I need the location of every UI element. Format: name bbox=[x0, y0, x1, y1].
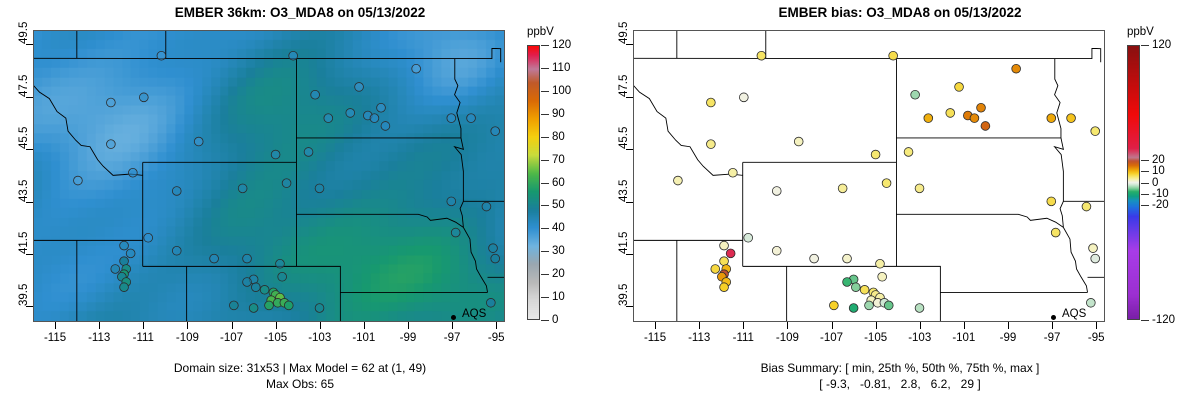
station-marker[interactable] bbox=[251, 283, 260, 292]
station-marker[interactable] bbox=[106, 98, 115, 107]
colorbar-tick-label: 10 bbox=[1152, 165, 1165, 177]
station-marker[interactable] bbox=[810, 254, 819, 263]
station-marker[interactable] bbox=[194, 137, 203, 146]
x-tick bbox=[320, 322, 321, 329]
panel-model: EMBER 36km: O3_MDA8 on 05/13/2022 39.541… bbox=[0, 0, 600, 409]
station-marker[interactable] bbox=[720, 283, 729, 292]
colorbar-tick bbox=[541, 297, 549, 298]
y-tick bbox=[626, 306, 633, 307]
station-marker[interactable] bbox=[889, 51, 898, 60]
x-tick-label: -115 bbox=[644, 332, 666, 344]
colorbar-tick-label: 110 bbox=[552, 62, 570, 74]
colorbar-tick-label: 90 bbox=[552, 108, 565, 120]
colorbar-tick-label: -20 bbox=[1152, 199, 1169, 211]
x-tick bbox=[743, 322, 744, 329]
station-marker[interactable] bbox=[843, 278, 852, 287]
caption-line-2: Max Obs: 65 bbox=[0, 376, 600, 392]
station-marker[interactable] bbox=[1047, 114, 1056, 123]
station-marker[interactable] bbox=[486, 298, 495, 307]
colorbar-tick bbox=[541, 228, 549, 229]
map-plot-model: AQS bbox=[33, 30, 505, 322]
x-tick-label: -101 bbox=[352, 332, 375, 344]
station-marker[interactable] bbox=[120, 241, 129, 250]
station-marker[interactable] bbox=[106, 140, 115, 149]
station-marker[interactable] bbox=[249, 304, 258, 313]
station-marker[interactable] bbox=[276, 259, 285, 268]
station-marker[interactable] bbox=[871, 150, 880, 159]
x-tick-label: -107 bbox=[220, 332, 243, 344]
colorbar-tick bbox=[541, 68, 549, 69]
station-marker[interactable] bbox=[946, 109, 955, 118]
station-marker[interactable] bbox=[1091, 254, 1100, 263]
station-marker[interactable] bbox=[915, 304, 924, 313]
y-tick-label: 49.5 bbox=[18, 22, 30, 44]
station-marker[interactable] bbox=[157, 51, 166, 60]
x-tick-label: -103 bbox=[308, 332, 331, 344]
colorbar-tick-label: 20 bbox=[1152, 154, 1165, 166]
station-marker[interactable] bbox=[265, 301, 274, 310]
station-marker[interactable] bbox=[289, 51, 298, 60]
y-tick-label: 39.5 bbox=[18, 284, 30, 306]
colorbar-tick-label: -120 bbox=[1152, 314, 1175, 326]
x-tick bbox=[276, 322, 277, 329]
y-tick-label: 45.5 bbox=[18, 127, 30, 149]
x-tick-label: -109 bbox=[776, 332, 799, 344]
station-marker[interactable] bbox=[876, 259, 885, 268]
y-tick-label: 43.5 bbox=[618, 179, 630, 201]
y-tick-label: 41.5 bbox=[618, 232, 630, 254]
x-tick-label: -101 bbox=[952, 332, 975, 344]
x-tick-label: -97 bbox=[444, 332, 461, 344]
x-tick bbox=[876, 322, 877, 329]
station-marker[interactable] bbox=[1047, 197, 1056, 206]
x-tick-label: -111 bbox=[733, 332, 754, 344]
station-marker[interactable] bbox=[772, 246, 781, 255]
panel-bias: EMBER bias: O3_MDA8 on 05/13/2022 39.541… bbox=[600, 0, 1200, 409]
x-axis-bias: -115-113-111-109-107-105-103-101-99-97-9… bbox=[633, 322, 1105, 352]
station-marker[interactable] bbox=[172, 187, 181, 196]
station-marker[interactable] bbox=[229, 301, 238, 310]
x-tick-label: -113 bbox=[688, 332, 710, 344]
station-marker[interactable] bbox=[238, 184, 247, 193]
station-marker[interactable] bbox=[772, 187, 781, 196]
colorbar-tick bbox=[1141, 194, 1149, 195]
station-marker[interactable] bbox=[977, 103, 986, 112]
colorbar-tick-label: 10 bbox=[552, 291, 565, 303]
station-marker[interactable] bbox=[1082, 202, 1091, 211]
station-marker[interactable] bbox=[111, 265, 120, 274]
y-tick-label: 43.5 bbox=[18, 179, 30, 201]
station-marker[interactable] bbox=[728, 168, 737, 177]
y-tick-label: 47.5 bbox=[18, 74, 30, 96]
x-tick bbox=[832, 322, 833, 329]
station-marker[interactable] bbox=[739, 93, 748, 102]
station-marker[interactable] bbox=[210, 254, 219, 263]
colorbar-gradient-model bbox=[527, 45, 540, 320]
station-marker[interactable] bbox=[74, 176, 83, 185]
x-tick bbox=[187, 322, 188, 329]
station-marker[interactable] bbox=[315, 304, 324, 313]
colorbar-tick bbox=[1141, 45, 1149, 46]
station-marker[interactable] bbox=[720, 241, 729, 250]
colorbar-tick-label: 70 bbox=[552, 154, 565, 166]
colorbar-tick bbox=[1141, 320, 1149, 321]
x-tick bbox=[232, 322, 233, 329]
colorbar-tick-label: -10 bbox=[1152, 188, 1169, 200]
x-tick bbox=[364, 322, 365, 329]
station-marker[interactable] bbox=[491, 254, 500, 263]
y-tick-label: 39.5 bbox=[618, 284, 630, 306]
station-marker[interactable] bbox=[139, 93, 148, 102]
station-marker[interactable] bbox=[120, 257, 129, 266]
station-marker[interactable] bbox=[451, 228, 460, 237]
station-marker[interactable] bbox=[120, 283, 129, 292]
station-marker[interactable] bbox=[878, 272, 887, 281]
station-marker[interactable] bbox=[126, 249, 135, 258]
x-tick bbox=[655, 322, 656, 329]
colorbar-tick-label: 0 bbox=[1152, 177, 1158, 189]
station-marker[interactable] bbox=[757, 51, 766, 60]
colorbar-tick bbox=[541, 251, 549, 252]
x-tick-label: -95 bbox=[1088, 332, 1105, 344]
station-marker[interactable] bbox=[381, 122, 390, 131]
caption-line-1: Domain size: 31x53 | Max Model = 62 at (… bbox=[0, 360, 600, 376]
station-marker[interactable] bbox=[172, 246, 181, 255]
map-plot-bias: AQS bbox=[633, 30, 1105, 322]
x-tick-label: -115 bbox=[44, 332, 66, 344]
station-marker[interactable] bbox=[794, 137, 803, 146]
x-tick bbox=[699, 322, 700, 329]
station-marker[interactable] bbox=[489, 244, 498, 253]
station-marker[interactable] bbox=[904, 148, 913, 157]
colorbar-tick bbox=[1141, 205, 1149, 206]
caption-model: Domain size: 31x53 | Max Model = 62 at (… bbox=[0, 360, 600, 392]
colorbar-tick-label: 0 bbox=[552, 314, 558, 326]
colorbar-tick bbox=[541, 205, 549, 206]
colorbar-tick bbox=[541, 160, 549, 161]
y-tick bbox=[26, 306, 33, 307]
x-tick bbox=[964, 322, 965, 329]
station-marker[interactable] bbox=[849, 304, 858, 313]
x-axis-model: -115-113-111-109-107-105-103-101-99-97-9… bbox=[33, 322, 505, 352]
colorbar-tick-label: 50 bbox=[552, 199, 565, 211]
station-marker[interactable] bbox=[311, 90, 320, 99]
station-marker[interactable] bbox=[243, 278, 252, 287]
x-tick-label: -95 bbox=[488, 332, 505, 344]
x-tick bbox=[143, 322, 144, 329]
colorbar-tick bbox=[541, 45, 549, 46]
x-tick bbox=[408, 322, 409, 329]
station-marker[interactable] bbox=[744, 233, 753, 242]
station-marker[interactable] bbox=[355, 83, 364, 92]
x-tick-label: -113 bbox=[88, 332, 110, 344]
aqs-legend-label: AQS bbox=[462, 308, 486, 320]
panel-title-bias: EMBER bias: O3_MDA8 on 05/13/2022 bbox=[600, 5, 1200, 20]
x-tick bbox=[920, 322, 921, 329]
station-markers-model[interactable] bbox=[34, 31, 504, 321]
station-marker[interactable] bbox=[282, 179, 291, 188]
y-tick bbox=[26, 149, 33, 150]
y-tick bbox=[626, 44, 633, 45]
colorbar-tick-label: 60 bbox=[552, 177, 565, 189]
station-marker[interactable] bbox=[706, 98, 715, 107]
station-marker[interactable] bbox=[720, 257, 729, 266]
station-marker[interactable] bbox=[981, 122, 990, 131]
x-tick bbox=[787, 322, 788, 329]
colorbar-tick bbox=[541, 183, 549, 184]
x-tick bbox=[452, 322, 453, 329]
x-tick bbox=[1008, 322, 1009, 329]
station-marker[interactable] bbox=[1012, 64, 1021, 73]
station-marker[interactable] bbox=[955, 83, 964, 92]
station-marker[interactable] bbox=[346, 109, 355, 118]
station-marker[interactable] bbox=[412, 64, 421, 73]
station-marker[interactable] bbox=[711, 265, 720, 274]
colorbar-tick-label: 120 bbox=[1152, 39, 1171, 51]
station-marker[interactable] bbox=[915, 184, 924, 193]
station-marker[interactable] bbox=[377, 103, 386, 112]
y-axis-model: 39.541.543.545.547.549.5 bbox=[0, 30, 33, 322]
station-marker[interactable] bbox=[851, 283, 860, 292]
aqs-legend-label: AQS bbox=[1062, 308, 1086, 320]
x-tick-label: -97 bbox=[1044, 332, 1061, 344]
x-tick-label: -105 bbox=[264, 332, 287, 344]
station-marker[interactable] bbox=[482, 202, 491, 211]
x-tick-label: -111 bbox=[133, 332, 154, 344]
y-tick-label: 41.5 bbox=[18, 232, 30, 254]
x-tick bbox=[1096, 322, 1097, 329]
station-marker[interactable] bbox=[706, 140, 715, 149]
colorbar-tick-label: 80 bbox=[552, 131, 565, 143]
y-axis-bias: 39.541.543.545.547.549.5 bbox=[600, 30, 633, 322]
station-marker[interactable] bbox=[243, 254, 252, 263]
station-marker[interactable] bbox=[882, 179, 891, 188]
x-tick bbox=[496, 322, 497, 329]
figure-root: EMBER 36km: O3_MDA8 on 05/13/2022 39.541… bbox=[0, 0, 1200, 409]
colorbar-tick bbox=[541, 91, 549, 92]
y-tick-label: 45.5 bbox=[618, 127, 630, 149]
colorbar-tick-label: 20 bbox=[552, 268, 565, 280]
station-marker[interactable] bbox=[447, 114, 456, 123]
station-marker[interactable] bbox=[304, 148, 313, 157]
station-marker[interactable] bbox=[315, 184, 324, 193]
y-tick bbox=[626, 254, 633, 255]
x-tick-label: -99 bbox=[1000, 332, 1017, 344]
station-marker[interactable] bbox=[924, 114, 933, 123]
colorbar-tick bbox=[541, 320, 549, 321]
caption-line-1: Bias Summary: [ min, 25th %, 50th %, 75t… bbox=[600, 360, 1200, 376]
station-marker[interactable] bbox=[970, 114, 979, 123]
x-tick bbox=[55, 322, 56, 329]
station-marker[interactable] bbox=[491, 127, 500, 136]
station-marker[interactable] bbox=[1091, 127, 1100, 136]
station-marker[interactable] bbox=[860, 285, 869, 294]
station-marker[interactable] bbox=[447, 197, 456, 206]
x-tick-label: -99 bbox=[400, 332, 417, 344]
x-tick-label: -103 bbox=[908, 332, 931, 344]
x-tick bbox=[99, 322, 100, 329]
station-marker[interactable] bbox=[370, 114, 379, 123]
x-tick bbox=[1052, 322, 1053, 329]
station-marker[interactable] bbox=[128, 168, 137, 177]
aqs-legend-dot bbox=[1051, 315, 1056, 320]
colorbar-tick bbox=[1141, 183, 1149, 184]
station-markers-bias[interactable] bbox=[634, 31, 1104, 321]
colorbar-tick bbox=[1141, 171, 1149, 172]
y-tick-label: 49.5 bbox=[618, 22, 630, 44]
x-tick-label: -105 bbox=[864, 332, 887, 344]
station-marker[interactable] bbox=[467, 114, 476, 123]
colorbar-tick-label: 30 bbox=[552, 245, 565, 257]
station-marker[interactable] bbox=[284, 301, 293, 310]
colorbar-gradient-bias bbox=[1127, 45, 1140, 320]
colorbar-model: ppbV 0102030405060708090100110120 bbox=[527, 45, 600, 320]
station-marker[interactable] bbox=[911, 90, 920, 99]
colorbar-tick bbox=[541, 114, 549, 115]
station-marker[interactable] bbox=[324, 114, 333, 123]
colorbar-tick bbox=[1141, 160, 1149, 161]
caption-bias: Bias Summary: [ min, 25th %, 50th %, 75t… bbox=[600, 360, 1200, 392]
station-marker[interactable] bbox=[1067, 114, 1076, 123]
caption-line-2: [ -9.3, -0.81, 2.8, 6.2, 29 ] bbox=[600, 376, 1200, 392]
colorbar-tick-label: 40 bbox=[552, 222, 565, 234]
aqs-legend-dot bbox=[451, 315, 456, 320]
colorbar-bias: ppbV -120-20-1001020120 bbox=[1127, 45, 1200, 320]
station-marker[interactable] bbox=[278, 272, 287, 281]
y-tick-label: 47.5 bbox=[618, 74, 630, 96]
station-marker[interactable] bbox=[674, 176, 683, 185]
y-tick bbox=[26, 254, 33, 255]
y-tick bbox=[26, 44, 33, 45]
station-marker[interactable] bbox=[838, 184, 847, 193]
station-marker[interactable] bbox=[829, 301, 838, 310]
station-marker[interactable] bbox=[843, 254, 852, 263]
x-tick-label: -107 bbox=[820, 332, 843, 344]
station-marker[interactable] bbox=[884, 301, 893, 310]
station-marker[interactable] bbox=[144, 233, 153, 242]
station-marker[interactable] bbox=[1051, 228, 1060, 237]
panel-title-model: EMBER 36km: O3_MDA8 on 05/13/2022 bbox=[0, 5, 600, 20]
station-marker[interactable] bbox=[271, 150, 280, 159]
station-marker[interactable] bbox=[1089, 244, 1098, 253]
colorbar-units-bias: ppbV bbox=[1127, 26, 1154, 38]
station-marker[interactable] bbox=[260, 285, 269, 294]
colorbar-tick-label: 100 bbox=[552, 85, 571, 97]
station-marker[interactable] bbox=[1086, 298, 1095, 307]
y-tick bbox=[626, 149, 633, 150]
colorbar-tick bbox=[541, 137, 549, 138]
station-marker[interactable] bbox=[865, 301, 874, 310]
x-tick-label: -109 bbox=[176, 332, 199, 344]
station-marker[interactable] bbox=[726, 249, 735, 258]
colorbar-tick bbox=[541, 274, 549, 275]
colorbar-tick-label: 120 bbox=[552, 39, 571, 51]
colorbar-units-model: ppbV bbox=[527, 26, 554, 38]
